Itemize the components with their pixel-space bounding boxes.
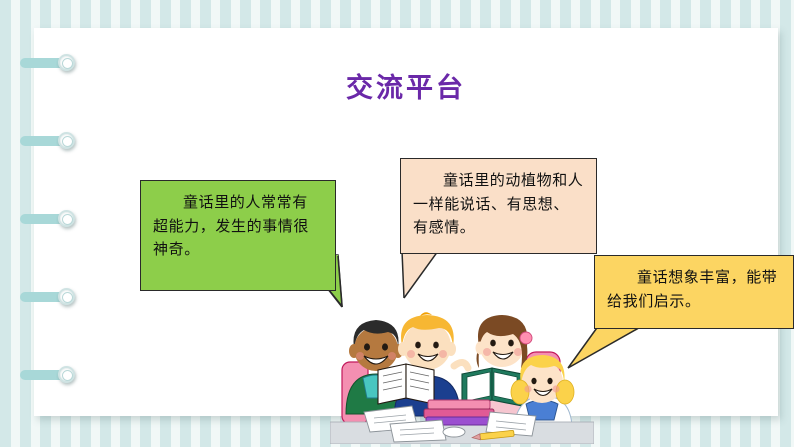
bubble-pink-text: 童话里的动植物和人一样能说话、有思想、有感情。 — [413, 169, 584, 240]
speech-bubble-green: 童话里的人常常有超能力，发生的事情很神奇。 — [140, 180, 336, 291]
binder-ring-1 — [20, 54, 80, 71]
slide-canvas: 交流平台 童话里的人常常有超能力，发生的事情很神奇。 童话里的动植物和人一样能说… — [0, 0, 794, 447]
bubble-pink-tail — [364, 248, 464, 308]
eraser — [443, 427, 465, 437]
binder-ring-4 — [20, 288, 80, 305]
page-title: 交流平台 — [34, 66, 778, 105]
binder-ring-hoop — [58, 210, 75, 227]
speech-bubble-yellow: 童话想象丰富，能带给我们启示。 — [594, 255, 794, 329]
pink-bow — [520, 332, 532, 344]
pigtail-right — [556, 380, 574, 404]
binder-ring-hoop — [58, 54, 75, 71]
open-book-child-2 — [378, 364, 434, 404]
speech-bubble-pink: 童话里的动植物和人一样能说话、有思想、有感情。 — [400, 158, 597, 254]
bubble-green-text: 童话里的人常常有超能力，发生的事情很神奇。 — [153, 191, 323, 262]
notebook-page: 交流平台 童话里的人常常有超能力，发生的事情很神奇。 童话里的动植物和人一样能说… — [34, 28, 778, 416]
binder-ring-hoop — [58, 366, 75, 383]
binder-ring-3 — [20, 210, 80, 227]
bubble-yellow-text: 童话想象丰富，能带给我们启示。 — [607, 266, 781, 313]
binder-ring-2 — [20, 132, 80, 149]
binder-ring-hoop — [58, 288, 75, 305]
binder-ring-5 — [20, 366, 80, 383]
binder-ring-hoop — [58, 132, 75, 149]
children-studying-illustration — [330, 304, 594, 444]
